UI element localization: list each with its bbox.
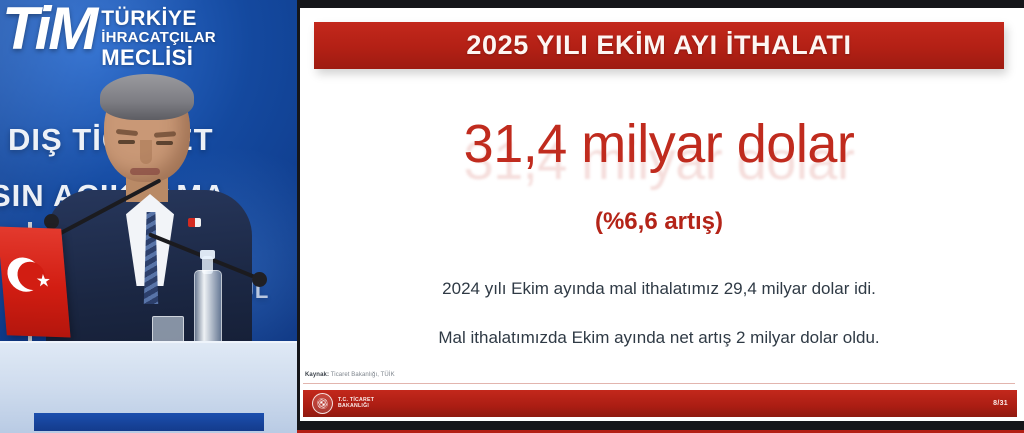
speaker-eye-right xyxy=(156,141,173,145)
speaker-eye-left xyxy=(118,140,135,144)
water-bottle xyxy=(194,270,222,350)
source-label: Kaynak: xyxy=(305,372,329,378)
tim-logo-mark: TiM xyxy=(2,0,95,59)
podium-band xyxy=(34,413,264,431)
speaker-hair xyxy=(100,74,194,120)
screen: TiM TÜRKİYE İHRACATÇILAR MECLİSİ DIŞ TİC… xyxy=(0,0,1024,433)
body-text-line-2: Mal ithalatımızda Ekim ayında net artış … xyxy=(297,328,1021,348)
slide-title-banner: 2025 YILI EKİM AYI İTHALATI xyxy=(314,22,1004,69)
slide-title: 2025 YILI EKİM AYI İTHALATI xyxy=(466,30,851,61)
ministry-brand-line-2: BAKANLIĞI xyxy=(338,404,374,410)
slide-footer: T.C. TİCARET BAKANLIĞI 8/31 xyxy=(303,390,1017,417)
broadcast-video-panel: TiM TÜRKİYE İHRACATÇILAR MECLİSİ DIŞ TİC… xyxy=(0,0,297,433)
ministry-brand: T.C. TİCARET BAKANLIĞI xyxy=(312,393,374,414)
headline-value: 31,4 milyar dolar xyxy=(297,116,1021,173)
change-percentage: (%6,6 artış) xyxy=(297,208,1021,236)
speaker-lapel-pin xyxy=(188,218,201,227)
source-divider xyxy=(303,383,1015,384)
ministry-brand-text: T.C. TİCARET BAKANLIĞI xyxy=(338,398,374,410)
turkish-flag: ★ xyxy=(0,227,71,338)
microphone-head-right xyxy=(252,272,267,287)
flag-star-icon: ★ xyxy=(35,272,52,290)
slide-top-edge xyxy=(297,0,1024,8)
source-note: Kaynak: Ticaret Bakanlığı, TÜİK xyxy=(305,372,395,378)
tim-logo-line-2: İHRACATÇILAR xyxy=(101,30,216,45)
microphone-head-left xyxy=(44,214,59,229)
slide-page-number: 8/31 xyxy=(993,400,1008,407)
tim-logo-line-3: MECLİSİ xyxy=(101,47,216,69)
presentation-slide: 2025 YILI EKİM AYI İTHALATI 31,4 milyar … xyxy=(297,0,1024,433)
podium xyxy=(0,341,297,433)
speaker-mouth xyxy=(130,168,160,175)
body-text-line-1: 2024 yılı Ekim ayında mal ithalatımız 29… xyxy=(297,279,1021,299)
ministry-seal-icon xyxy=(312,393,333,414)
source-value: Ticaret Bakanlığı, TÜİK xyxy=(331,372,395,378)
speaker-nose xyxy=(140,140,152,164)
tim-logo-words: TÜRKİYE İHRACATÇILAR MECLİSİ xyxy=(101,8,216,69)
tim-logo-line-1: TÜRKİYE xyxy=(101,8,216,29)
